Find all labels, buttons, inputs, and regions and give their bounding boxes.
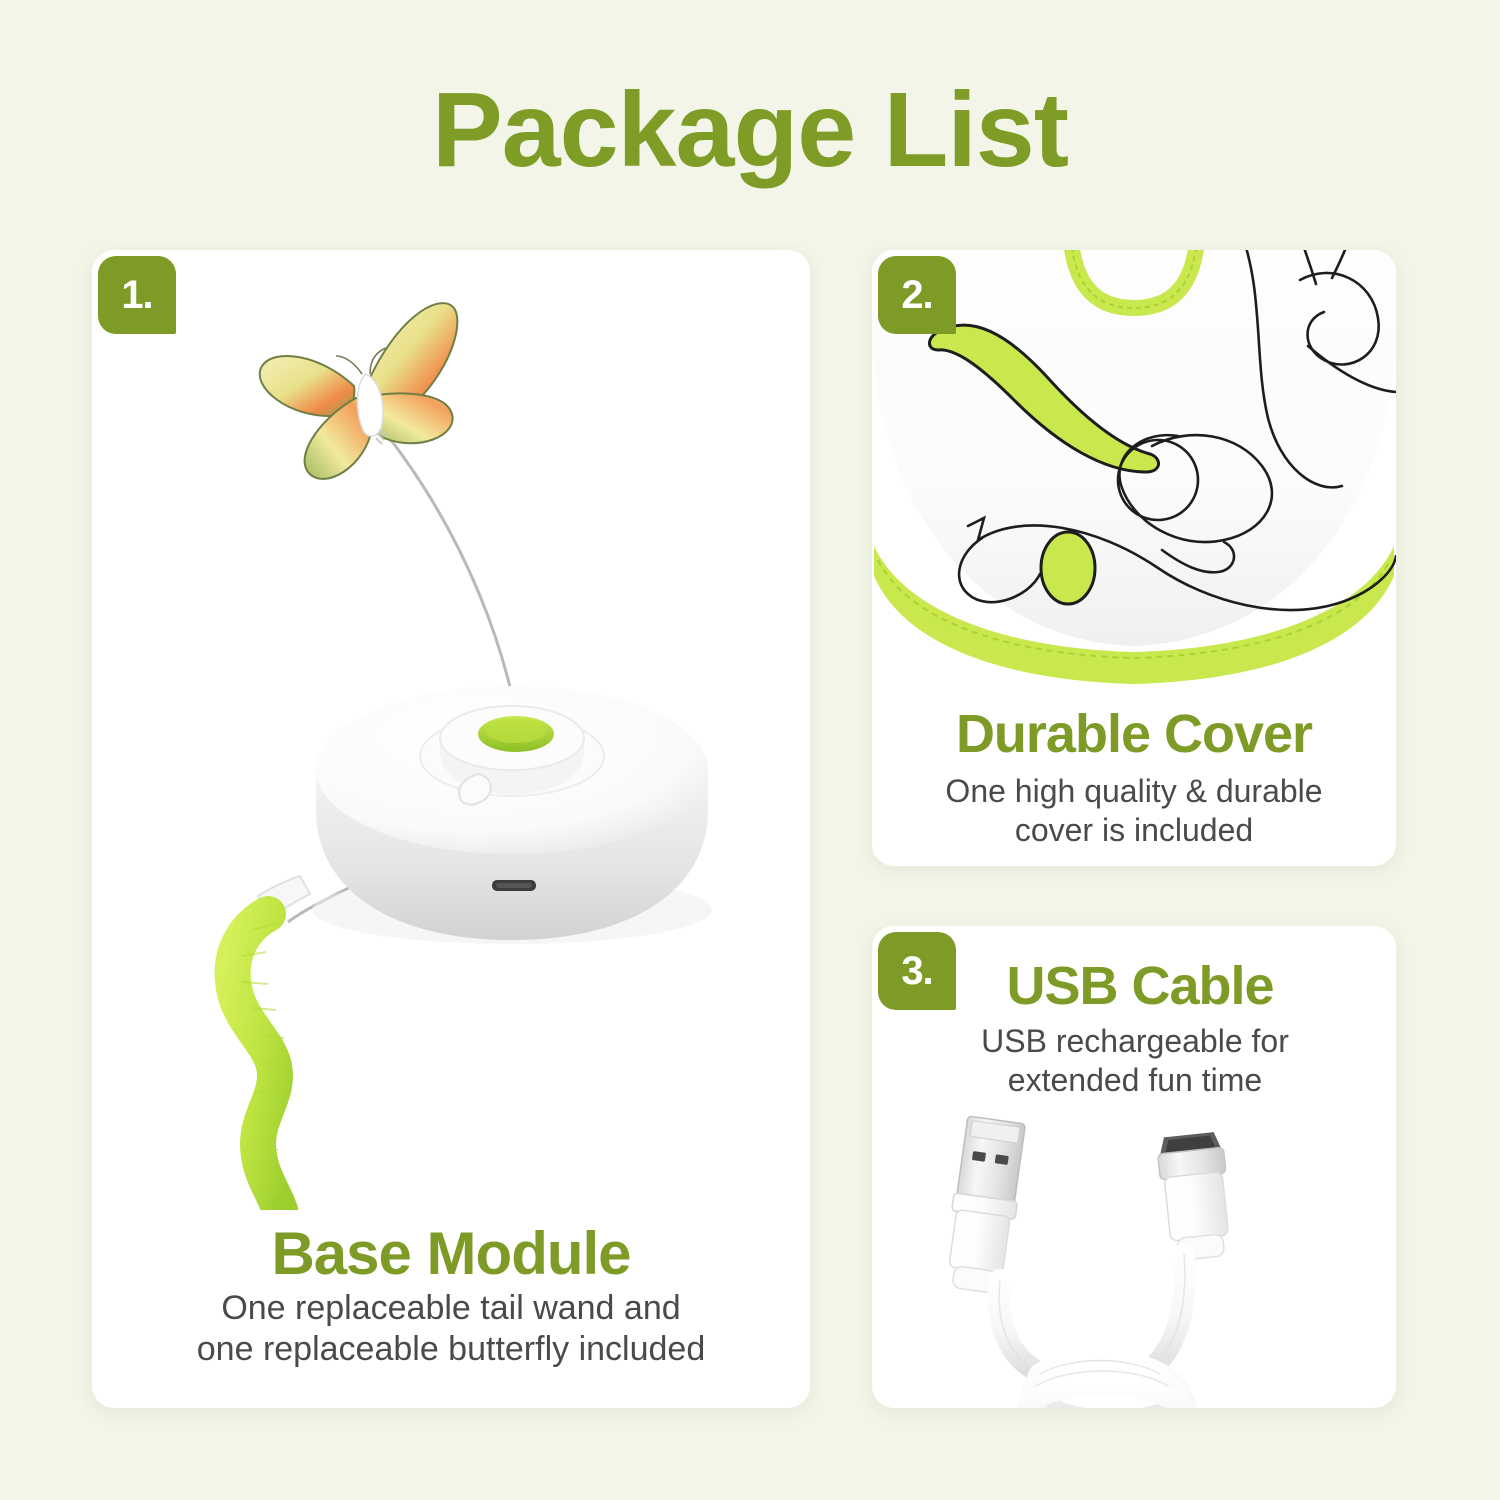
package-list-infographic: Package List: [0, 0, 1500, 1500]
card-2-subtitle: One high quality & durablecover is inclu…: [872, 772, 1396, 850]
card-1-title: Base Module: [92, 1222, 810, 1285]
page-title: Package List: [0, 72, 1500, 189]
card-2-title: Durable Cover: [872, 706, 1396, 763]
card-3-title: USB Cable: [940, 958, 1340, 1015]
badge-number-2: 2.: [878, 256, 956, 334]
badge-number-3: 3.: [878, 932, 956, 1010]
badge-number-1: 1.: [98, 256, 176, 334]
card-3-subtitle: USB rechargeable forextended fun time: [890, 1022, 1380, 1100]
card-1-subtitle: One replaceable tail wand andone replace…: [92, 1288, 810, 1371]
